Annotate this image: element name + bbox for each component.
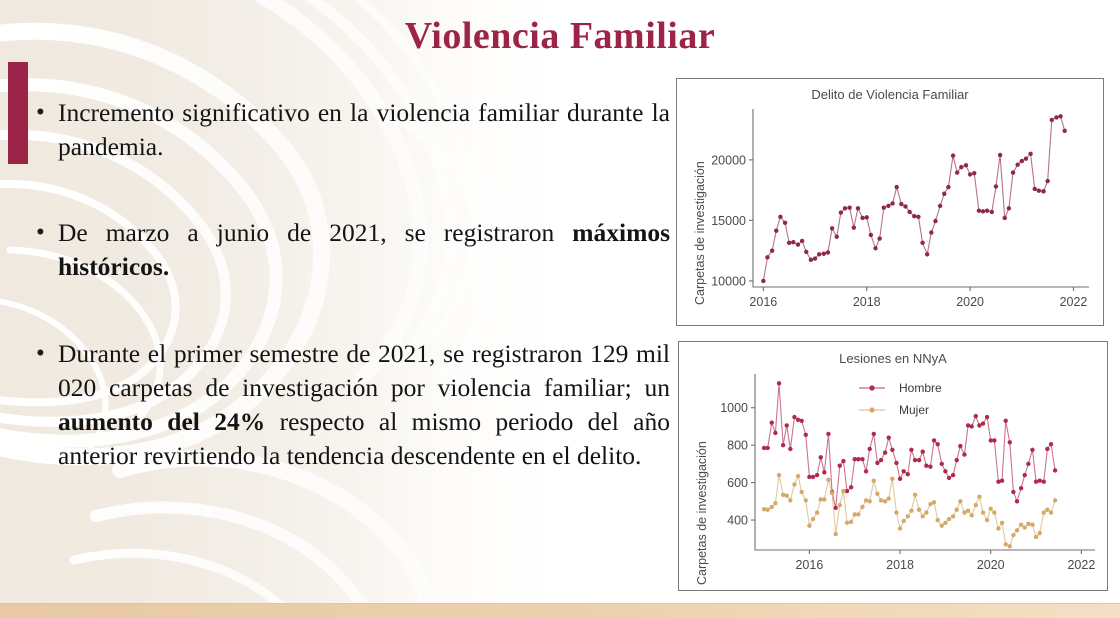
bullet-text: De marzo a junio de 2021, se registraron… <box>58 216 670 284</box>
bullet-list: • Incremento significativo en la violenc… <box>36 96 670 507</box>
svg-text:Mujer: Mujer <box>899 403 929 417</box>
bullet-marker-icon: • <box>36 96 58 130</box>
svg-text:2016: 2016 <box>795 558 823 572</box>
list-item: • Durante el primer semestre de 2021, se… <box>36 337 670 474</box>
svg-text:1000: 1000 <box>720 401 748 415</box>
svg-text:2018: 2018 <box>886 558 914 572</box>
svg-text:Hombre: Hombre <box>899 381 942 395</box>
bullet-text: Durante el primer semestre de 2021, se r… <box>58 337 670 474</box>
svg-text:2020: 2020 <box>977 558 1005 572</box>
svg-text:2016: 2016 <box>749 295 777 309</box>
list-item: • Incremento significativo en la violenc… <box>36 96 670 164</box>
chart-lesiones-nnya: Lesiones en NNyA Carpetas de investigaci… <box>678 341 1108 591</box>
svg-text:600: 600 <box>727 476 748 490</box>
accent-bar <box>8 62 28 164</box>
bullet-marker-icon: • <box>36 337 58 371</box>
svg-text:400: 400 <box>727 514 748 528</box>
bullet-text: Incremento significativo en la violencia… <box>58 96 670 164</box>
svg-text:2022: 2022 <box>1060 295 1088 309</box>
list-item: • De marzo a junio de 2021, se registrar… <box>36 216 670 284</box>
bottom-strip <box>0 604 1120 618</box>
svg-text:2018: 2018 <box>853 295 881 309</box>
page-title: Violencia Familiar <box>0 14 1120 58</box>
chart-delito-violencia-familiar: Delito de Violencia Familiar Carpetas de… <box>676 78 1104 326</box>
bullet-marker-icon: • <box>36 216 58 250</box>
svg-text:800: 800 <box>727 439 748 453</box>
svg-text:10000: 10000 <box>711 274 746 288</box>
chart-plot-area: 40060080010002016201820202022HombreMujer <box>679 342 1109 592</box>
svg-text:15000: 15000 <box>711 214 746 228</box>
svg-text:20000: 20000 <box>711 153 746 167</box>
chart-plot-area: 1000015000200002016201820202022 <box>677 79 1105 327</box>
svg-text:2020: 2020 <box>956 295 984 309</box>
svg-text:2022: 2022 <box>1067 558 1095 572</box>
